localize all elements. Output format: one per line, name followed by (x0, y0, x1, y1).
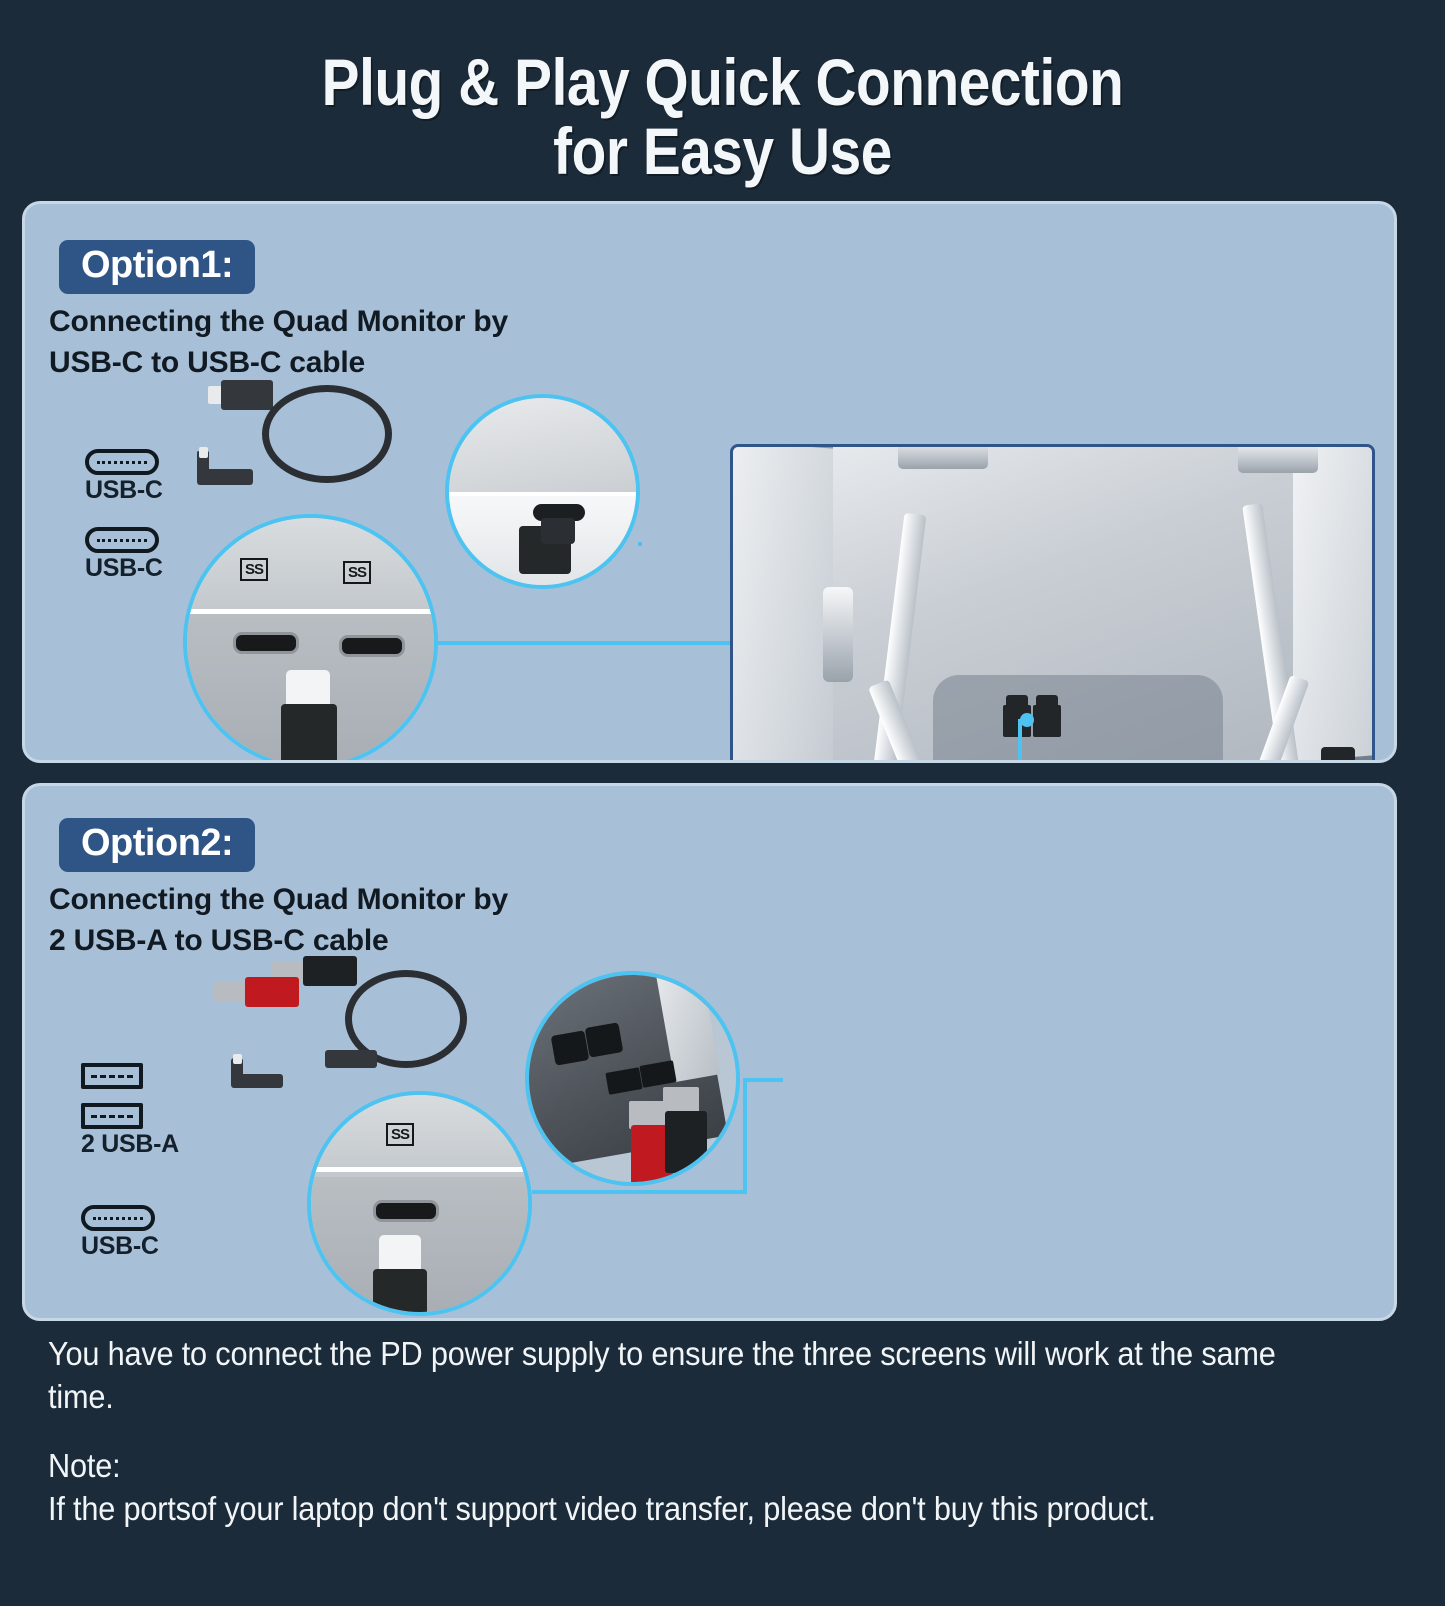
option-1-subtitle-line-1: Connecting the Quad Monitor by (49, 302, 508, 343)
usb-c-port-left (233, 632, 299, 654)
footer-notice: You have to connect the PD power supply … (48, 1333, 1310, 1419)
option-2-badge: Option2: (59, 818, 255, 872)
ss-marking-label: SS (343, 561, 371, 584)
option-2-port-label-usbc: USB-C (81, 1232, 179, 1261)
usb-c-port (373, 1200, 439, 1222)
option-1-port-label-2: USB-C (85, 554, 163, 583)
usb-c-port-icon (85, 527, 159, 553)
option-2-port-label-usba: 2 USB-A (81, 1130, 179, 1159)
usb-c-port-right (339, 635, 405, 657)
usb-a-port-icon (81, 1063, 143, 1089)
laptop-usba-magnifier (525, 971, 740, 1186)
option-1-port-label-1: USB-C (85, 476, 163, 505)
footer-note-heading: Note: (48, 1445, 1310, 1488)
option-1-port-list: USB-C USB-C (85, 449, 163, 583)
footer-note-body: If the portsof your laptop don't support… (48, 1488, 1310, 1531)
callout-line-ports (438, 641, 733, 645)
option-2-subtitle-line-1: Connecting the Quad Monitor by (49, 880, 508, 921)
usb-a-port-icon (81, 1103, 143, 1129)
callout-line-stub (638, 542, 642, 546)
option-2-subtitle-line-2: 2 USB-A to USB-C cable (49, 921, 508, 962)
footer-text: You have to connect the PD power supply … (48, 1333, 1405, 1531)
option-1-panel: Option1: Connecting the Quad Monitor by … (22, 201, 1397, 763)
dual-usbc-port-magnifier: SS SS (183, 514, 438, 763)
laptop-usbc-magnifier (445, 394, 640, 589)
option-2-port-list: 2 USB-A USB-C (81, 1063, 179, 1261)
callout-line-vertical (743, 1078, 747, 1194)
option-2-subtitle: Connecting the Quad Monitor by 2 USB-A t… (49, 880, 508, 961)
page-title: Plug & Play Quick Connection for Easy Us… (101, 0, 1344, 187)
page-title-line-1: Plug & Play Quick Connection (101, 48, 1344, 117)
ss-marking-label: SS (240, 558, 268, 581)
option-1-subtitle-line-2: USB-C to USB-C cable (49, 343, 508, 384)
option-2-panel: Option2: Connecting the Quad Monitor by … (22, 783, 1397, 1321)
page-title-line-2: for Easy Use (101, 117, 1344, 186)
option-1-product-photo: PD power supply (730, 444, 1375, 763)
usb-c-port-icon (85, 449, 159, 475)
option-1-badge: Option1: (59, 240, 255, 294)
ss-marking-label: SS (386, 1123, 414, 1146)
usb-c-port-icon (81, 1205, 155, 1231)
option-1-subtitle: Connecting the Quad Monitor by USB-C to … (49, 302, 508, 383)
callout-line-top (743, 1078, 783, 1082)
callout-line-usbc (532, 1190, 747, 1194)
single-usbc-port-magnifier: SS (307, 1091, 532, 1316)
